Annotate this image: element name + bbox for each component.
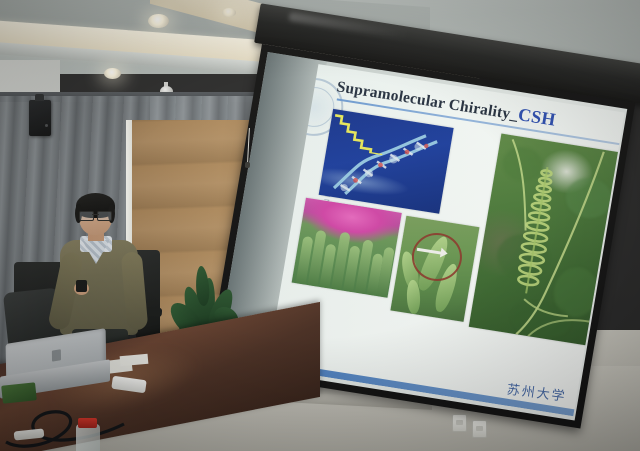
speaker-driver xyxy=(45,124,48,127)
presentation-slide: SOOCHOW UNIVERSITY Supramolecular Chiral… xyxy=(267,64,625,416)
vine-stem-icon xyxy=(469,134,625,347)
glasses-icon xyxy=(79,211,112,219)
slide-image-twisted-succulent-closeup xyxy=(390,216,479,322)
presenter-remote-icon[interactable] xyxy=(76,280,87,292)
cable xyxy=(0,388,200,450)
glasses-bridge xyxy=(92,214,99,215)
wall-speaker-icon xyxy=(29,100,51,136)
slide-image-ice-plant-flowers xyxy=(292,198,402,298)
water-bottle xyxy=(76,424,100,451)
downlight-icon xyxy=(148,14,169,28)
slide-image-coiled-tendril xyxy=(469,134,625,347)
downlight-icon xyxy=(222,8,236,17)
bottle-cap xyxy=(78,418,97,428)
glasses-lens xyxy=(97,211,112,221)
laptop-logo-icon xyxy=(52,349,61,361)
conference-room-photo: SOOCHOW UNIVERSITY Supramolecular Chiral… xyxy=(0,0,640,451)
downlight-icon xyxy=(104,68,121,79)
slide-title-highlight: CSH xyxy=(517,104,557,130)
glasses-lens xyxy=(79,211,94,221)
slide-image-dna-double-helix xyxy=(319,109,454,214)
